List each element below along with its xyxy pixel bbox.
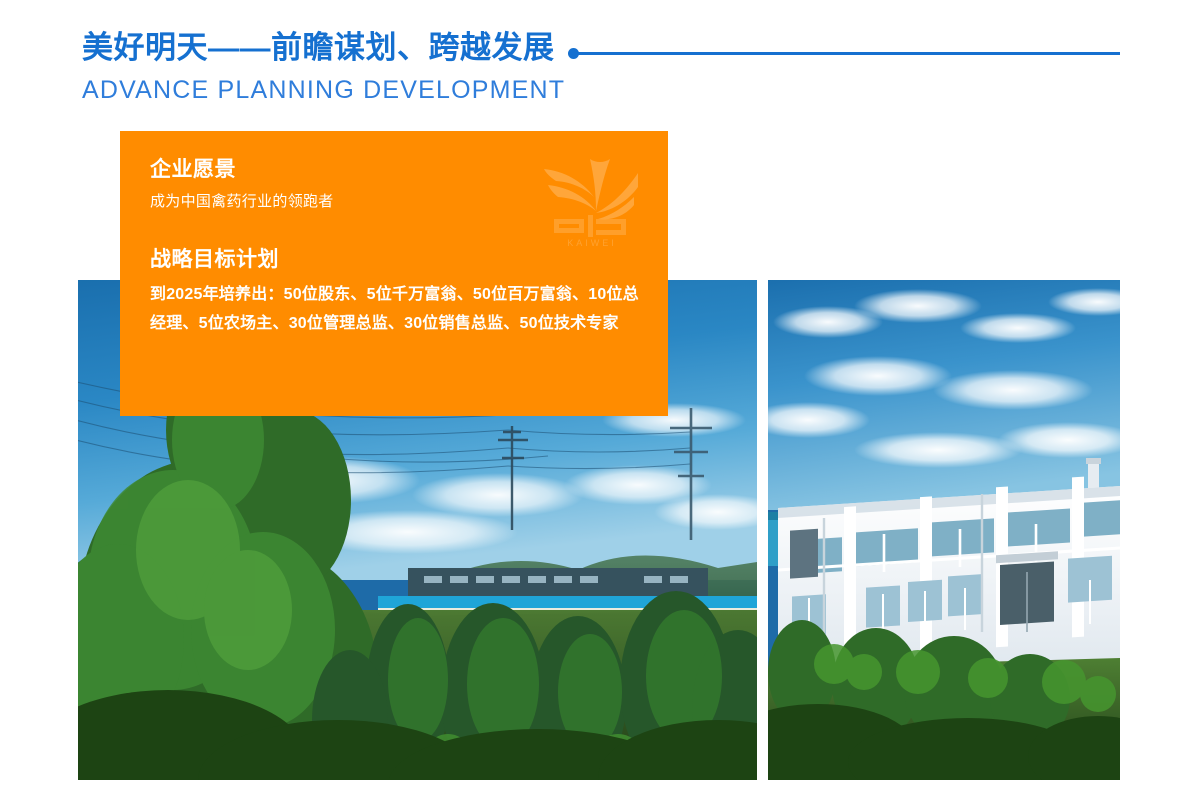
goals-text: 到2025年培养出：50位股东、5位千万富翁、50位百万富翁、10位总经理、5位… bbox=[150, 280, 650, 339]
vision-and-goals-panel: KAIWEI 企业愿景 成为中国禽药行业的领跑者 战略目标计划 到2025年培养… bbox=[120, 131, 668, 416]
goals-block: 战略目标计划 到2025年培养出：50位股东、5位千万富翁、50位百万富翁、10… bbox=[150, 247, 650, 339]
page-title: 美好明天——前瞻谋划、跨越发展 bbox=[82, 32, 555, 63]
poster-page: 美好明天——前瞻谋划、跨越发展 ADVANCE PLANNING DEVELOP… bbox=[0, 0, 1200, 793]
dot-and-line-divider-icon bbox=[568, 48, 1120, 59]
vision-text: 成为中国禽药行业的领跑者 bbox=[150, 191, 650, 214]
office-building-photo bbox=[768, 280, 1120, 780]
vision-heading: 企业愿景 bbox=[150, 157, 650, 182]
vision-block: 企业愿景 成为中国禽药行业的领跑者 bbox=[150, 157, 650, 214]
page-header: 美好明天——前瞻谋划、跨越发展 ADVANCE PLANNING DEVELOP… bbox=[0, 0, 1200, 125]
divider-line bbox=[577, 52, 1120, 55]
page-subtitle: ADVANCE PLANNING DEVELOPMENT bbox=[82, 78, 565, 103]
goals-heading: 战略目标计划 bbox=[150, 247, 650, 272]
panel-content: 企业愿景 成为中国禽药行业的领跑者 战略目标计划 到2025年培养出：50位股东… bbox=[150, 157, 650, 339]
